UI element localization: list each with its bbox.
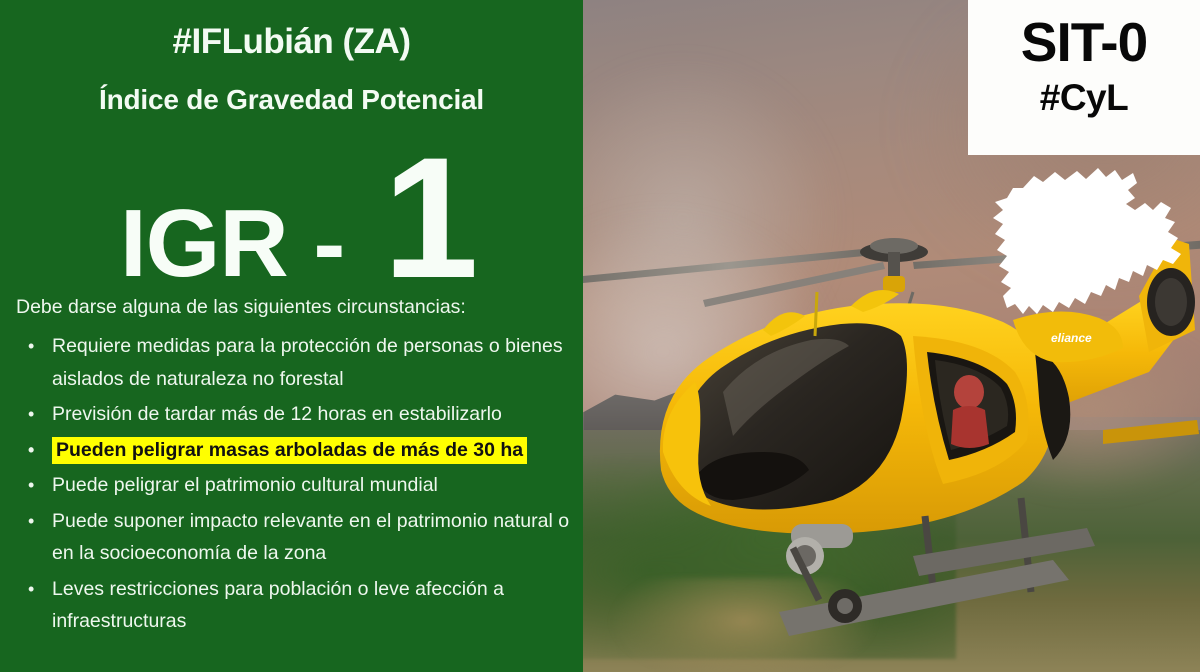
region-hashtag: #CyL — [1040, 72, 1128, 124]
list-item-highlighted: • Pueden peligrar masas arboladas de más… — [16, 434, 581, 467]
list-item: • Leves restricciones para población o l… — [16, 573, 581, 638]
helicopter-photo: eliance — [583, 0, 1200, 672]
situation-badge: SIT-0 #CyL — [968, 0, 1200, 155]
list-item-text: Puede peligrar el patrimonio cultural mu… — [52, 474, 438, 496]
bullet-icon: • — [28, 330, 34, 363]
list-item-text: Leves restricciones para población o lev… — [52, 578, 504, 633]
list-item-text: Requiere medidas para la protección de p… — [52, 335, 563, 390]
igr-alert-poster: eliance — [0, 0, 1200, 672]
fire-hashtag-title: #IFLubián (ZA) — [0, 22, 583, 62]
list-item-text: Pueden peligrar masas arboladas de más d… — [52, 437, 527, 464]
situation-level: SIT-0 — [1021, 12, 1147, 72]
criteria-list: • Requiere medidas para la protección de… — [16, 330, 581, 641]
index-subtitle: Índice de Gravedad Potencial — [0, 84, 583, 116]
list-item: • Puede suponer impacto relevante en el … — [16, 505, 581, 570]
list-item: • Puede peligrar el patrimonio cultural … — [16, 469, 581, 502]
igr-display: IGR - 1 — [0, 128, 583, 288]
list-item-text: Puede suponer impacto relevante en el pa… — [52, 510, 569, 565]
bullet-icon: • — [28, 434, 34, 467]
info-panel: #IFLubián (ZA) Índice de Gravedad Potenc… — [0, 0, 583, 672]
bullet-icon: • — [28, 398, 34, 431]
bullet-icon: • — [28, 469, 34, 502]
bullet-icon: • — [28, 573, 34, 606]
igr-label: IGR - — [120, 196, 344, 292]
list-item-text: Previsión de tardar más de 12 horas en e… — [52, 403, 502, 425]
criteria-intro: Debe darse alguna de las siguientes circ… — [16, 296, 576, 318]
list-item: • Requiere medidas para la protección de… — [16, 330, 581, 395]
castilla-y-leon-map-icon — [985, 158, 1190, 338]
bullet-icon: • — [28, 505, 34, 538]
list-item: • Previsión de tardar más de 12 horas en… — [16, 398, 581, 431]
igr-value: 1 — [383, 138, 475, 298]
